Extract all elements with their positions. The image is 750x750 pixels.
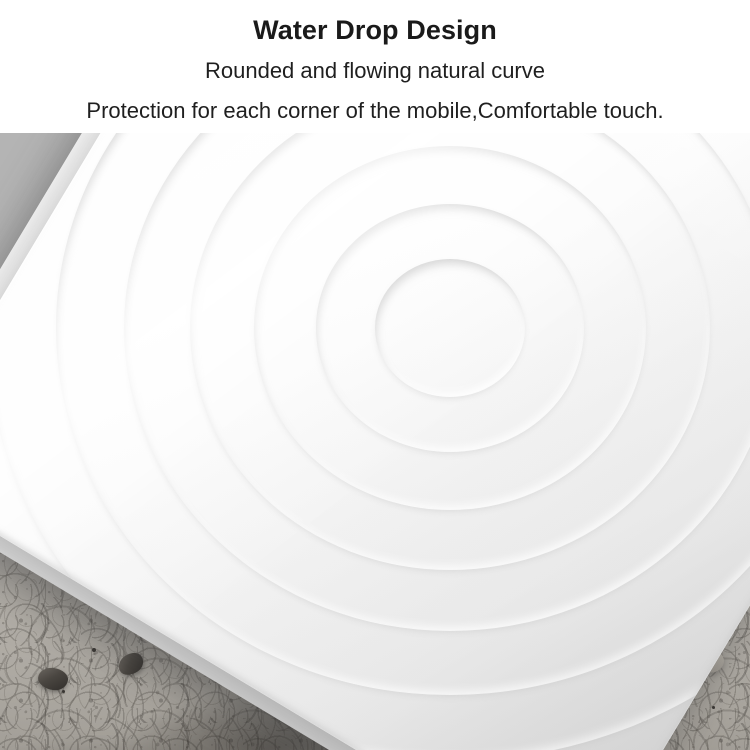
header-text-band: Water Drop Design Rounded and flowing na… [0, 0, 750, 133]
subtitle-line-2: Protection for each corner of the mobile… [0, 97, 750, 125]
debris-fleck-13 [92, 648, 96, 652]
page-title: Water Drop Design [0, 13, 750, 47]
subtitle-line-1: Rounded and flowing natural curve [0, 57, 750, 85]
debris-fleck-18 [712, 706, 715, 709]
dust-scuff-far-left [0, 733, 260, 750]
product-feature-banner: Water Drop Design Rounded and flowing na… [0, 0, 750, 750]
product-photo [0, 133, 750, 750]
debris-fleck-14 [62, 690, 65, 693]
